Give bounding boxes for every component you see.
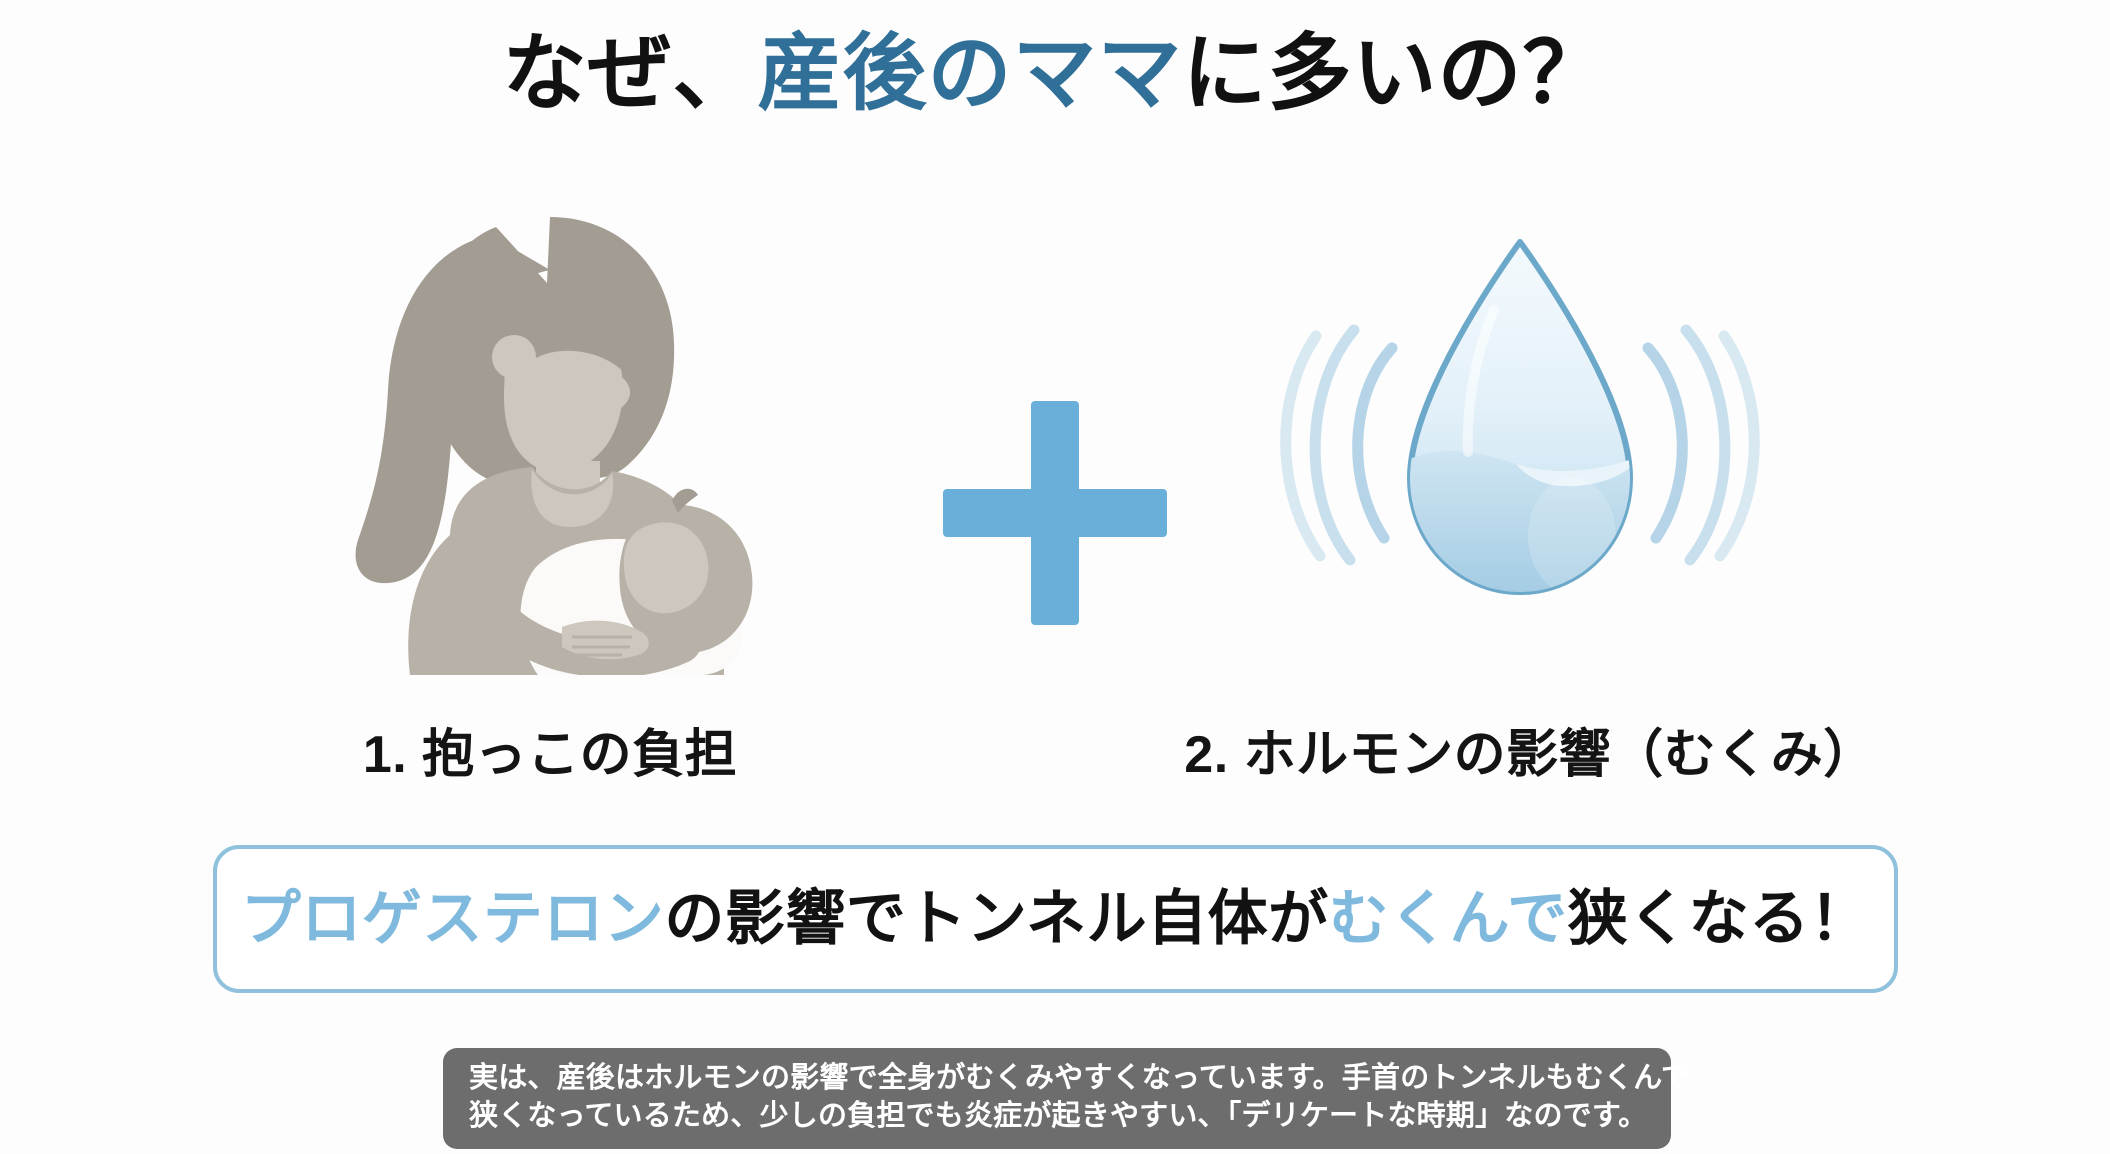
mother-holding-baby-illustration bbox=[300, 175, 800, 675]
factor-label-1: 1. 抱っこの負担 bbox=[170, 712, 930, 787]
callout-middle: の影響でトンネル自体が bbox=[664, 885, 1328, 952]
callout-highlight-2: むくんで bbox=[1329, 885, 1568, 952]
water-drop-swelling-illustration bbox=[1280, 220, 1760, 650]
subtitle-line-1: 実は、産後はホルモンの影響で全身がむくみやすくなっています。手首のトンネルもむく… bbox=[469, 1060, 1645, 1098]
factors-row bbox=[0, 175, 2110, 695]
subtitle-bar: 実は、産後はホルモンの影響で全身がむくみやすくなっています。手首のトンネルもむく… bbox=[443, 1048, 1671, 1149]
title-highlight: 産後のママ bbox=[757, 26, 1182, 120]
plus-icon bbox=[935, 393, 1175, 633]
subtitle-line-2: 狭くなっているため、少しの負担でも炎症が起きやすい、「デリケートな時期」なのです… bbox=[469, 1098, 1645, 1136]
title-part-2: に多いの？ bbox=[1183, 26, 1608, 120]
callout-text: プロゲステロンの影響でトンネル自体がむくんで狭くなる！ bbox=[241, 889, 1870, 949]
callout-tail: 狭くなる！ bbox=[1568, 885, 1871, 952]
title-part-1: なぜ、 bbox=[502, 26, 757, 120]
callout-highlight-1: プロゲステロン bbox=[241, 885, 665, 952]
callout-box: プロゲステロンの影響でトンネル自体がむくんで狭くなる！ bbox=[213, 845, 1898, 993]
factor-label-2: 2. ホルモンの影響（むくみ） bbox=[1140, 712, 1920, 787]
page-title: なぜ、産後のママに多いの？ bbox=[0, 26, 2110, 120]
